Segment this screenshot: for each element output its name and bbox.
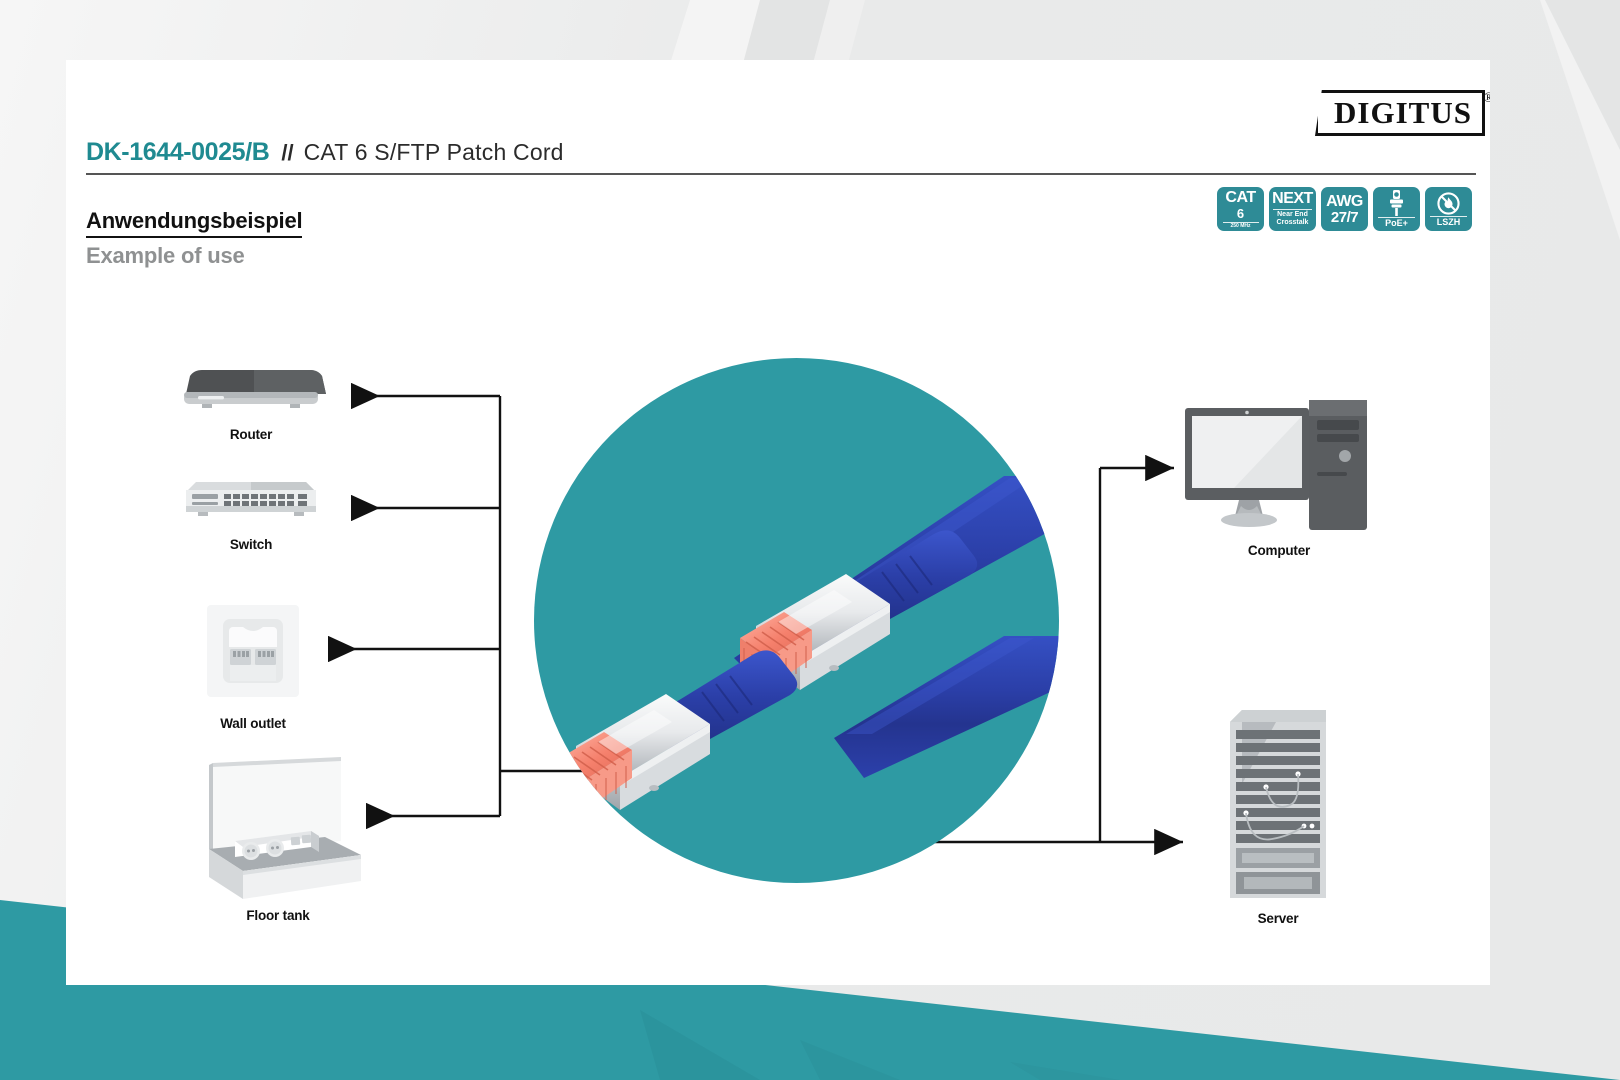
feature-badges: CAT 6 250 MHz NEXT Near End Crosstalk AW…: [1217, 187, 1472, 231]
node-server-label: Server: [1188, 911, 1368, 926]
registered-trademark-icon: ®: [1483, 91, 1490, 107]
computer-icon: [1179, 394, 1379, 544]
datasheet-card: DIGITUS ® DK-1644-0025/B // CAT 6 S/FTP …: [66, 60, 1490, 985]
section-heading-de: Anwendungsbeispiel: [86, 208, 302, 238]
poe-plug-icon: [1388, 190, 1405, 216]
node-computer: Computer: [1174, 394, 1384, 558]
title-separator: //: [281, 140, 293, 166]
patch-cord-image: [534, 358, 1059, 883]
node-wall-outlet-label: Wall outlet: [198, 716, 308, 731]
badge-next: NEXT Near End Crosstalk: [1269, 187, 1316, 231]
router-icon: [176, 366, 326, 416]
badge-awg-main: AWG: [1326, 194, 1363, 210]
badge-next-line1: Near End: [1277, 211, 1308, 218]
section-heading: Anwendungsbeispiel Example of use: [86, 208, 302, 269]
badge-poe: PoE+: [1373, 187, 1420, 231]
badge-lszh: LSZH: [1425, 187, 1472, 231]
node-switch: Switch: [176, 476, 326, 552]
switch-icon: [176, 476, 326, 526]
badge-cat6-main: CAT: [1225, 190, 1255, 206]
product-name: CAT 6 S/FTP Patch Cord: [304, 139, 564, 166]
badge-poe-label: PoE+: [1378, 217, 1415, 228]
no-flame-icon: [1437, 192, 1460, 215]
wall-outlet-icon: [203, 601, 303, 701]
section-heading-en: Example of use: [86, 243, 302, 269]
badge-cat6-mid: 6: [1237, 207, 1244, 220]
server-icon: [1218, 704, 1338, 904]
node-wall-outlet: Wall outlet: [198, 601, 308, 731]
badge-next-main: NEXT: [1272, 191, 1313, 207]
product-title: DK-1644-0025/B // CAT 6 S/FTP Patch Cord: [86, 138, 1476, 167]
badge-cat6: CAT 6 250 MHz: [1217, 187, 1264, 231]
badge-awg: AWG 27/7: [1321, 187, 1368, 231]
node-server: Server: [1188, 704, 1368, 926]
node-floor-tank: Floor tank: [178, 751, 378, 923]
node-router: Router: [176, 366, 326, 442]
badge-next-line2: Crosstalk: [1277, 219, 1309, 226]
logo-wordmark: DIGITUS: [1315, 90, 1485, 136]
node-floor-tank-label: Floor tank: [178, 908, 378, 923]
badge-lszh-label: LSZH: [1430, 216, 1467, 227]
badge-awg-value: 27/7: [1331, 210, 1358, 225]
title-divider: [86, 173, 1476, 175]
badge-next-desc: Near End Crosstalk: [1273, 209, 1313, 227]
digitus-logo: DIGITUS ®: [1315, 90, 1485, 136]
node-switch-label: Switch: [176, 537, 326, 552]
article-code: DK-1644-0025/B: [86, 138, 269, 167]
floor-tank-icon: [191, 751, 366, 901]
product-hero: [534, 358, 1059, 883]
node-router-label: Router: [176, 427, 326, 442]
application-diagram: Router: [66, 286, 1490, 976]
node-computer-label: Computer: [1174, 543, 1384, 558]
badge-cat6-sub: 250 MHz: [1223, 222, 1259, 229]
